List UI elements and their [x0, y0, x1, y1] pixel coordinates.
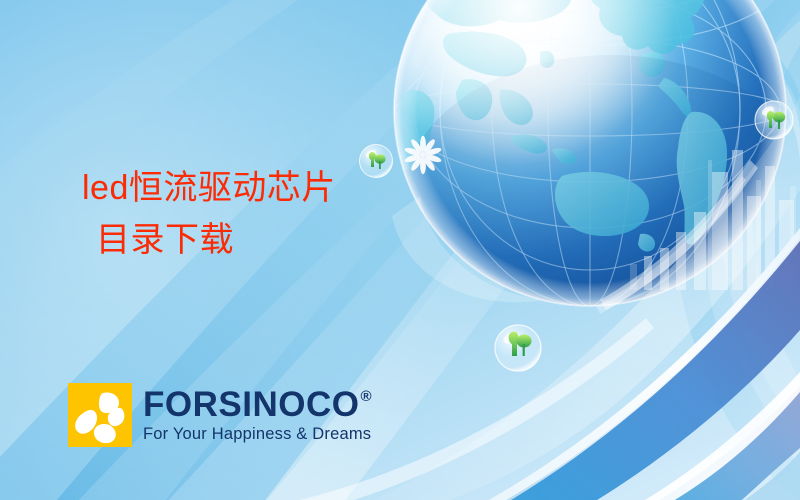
logo-wordmark-text: FORSINOCO	[143, 387, 359, 422]
registered-trademark-icon: ®	[360, 389, 372, 404]
headline-line-1: led恒流驱动芯片	[82, 163, 336, 215]
pinwheel-petals-icon	[68, 383, 132, 447]
promo-banner: led恒流驱动芯片 目录下载 FORSINOCO ®	[0, 0, 800, 500]
logo-tagline: For Your Happiness & Dreams	[143, 426, 372, 443]
headline-text: led恒流驱动芯片 目录下载	[82, 163, 336, 266]
headline-line-2: 目录下载	[82, 215, 336, 267]
logo-text-block: FORSINOCO ® For Your Happiness & Dreams	[143, 387, 372, 443]
company-logo: FORSINOCO ® For Your Happiness & Dreams	[68, 383, 372, 447]
logo-wordmark: FORSINOCO ®	[143, 387, 372, 422]
